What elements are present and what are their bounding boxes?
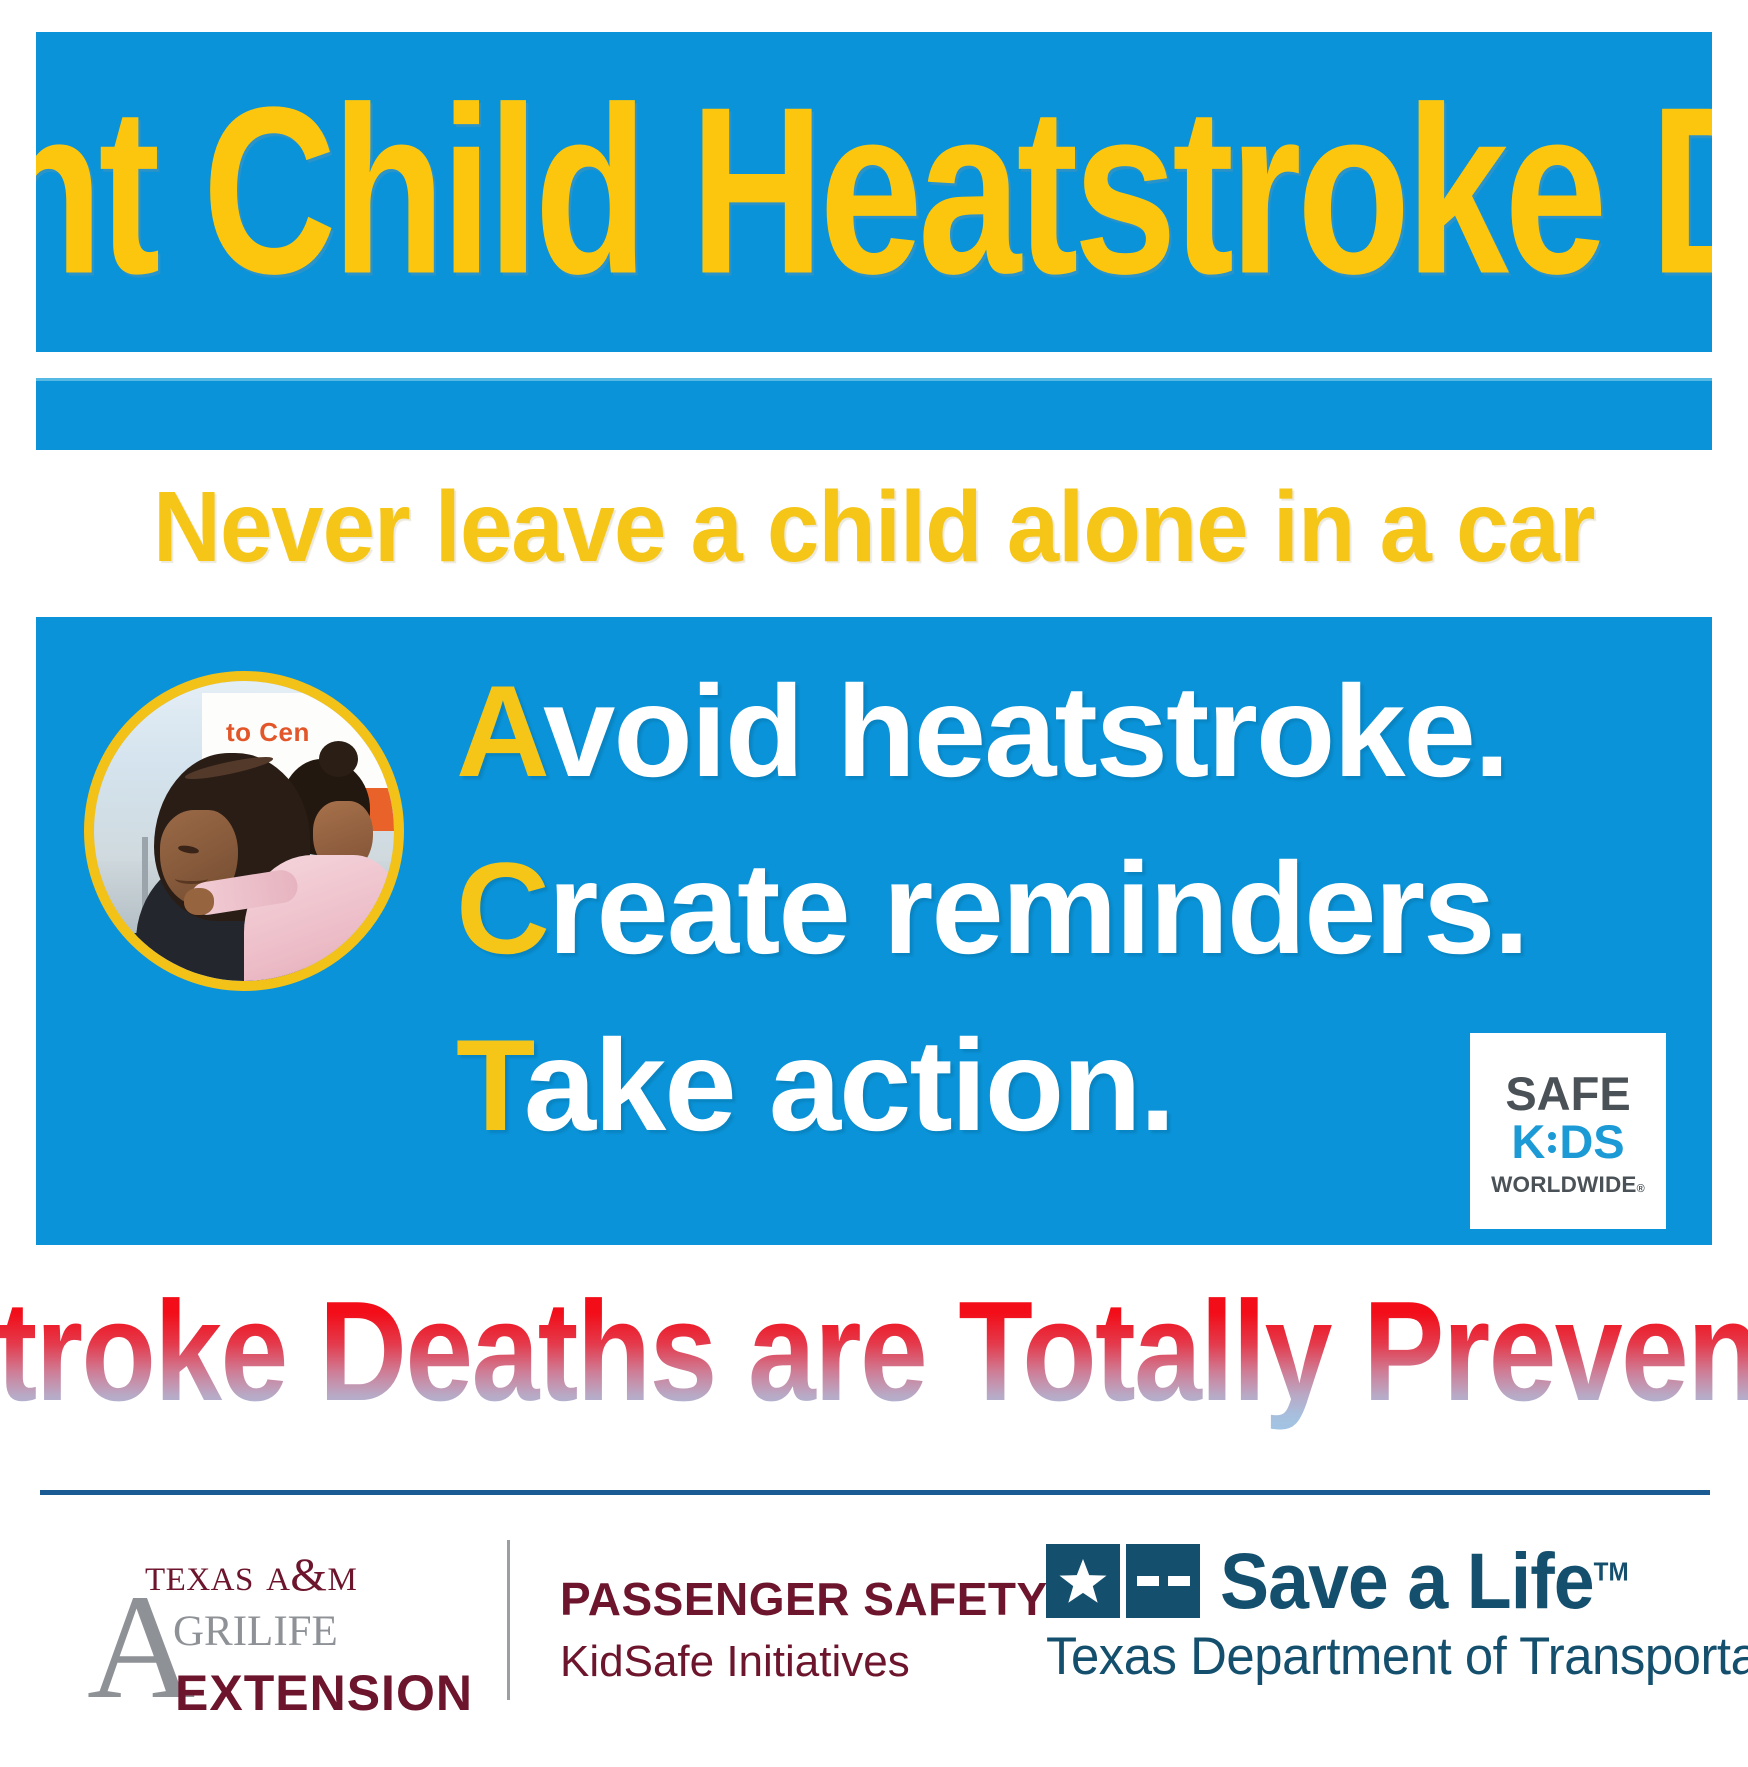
preventable-headline: Heatstroke Deaths are Totally Preventabl… <box>0 1270 1748 1434</box>
act-line-avoid: Avoid heatstroke. <box>456 643 1656 820</box>
passenger-safety-title: PASSENGER SAFETY <box>560 1572 1048 1626</box>
act-line-create: Create reminders. <box>456 820 1656 997</box>
passenger-safety-block: PASSENGER SAFETY KidSafe Initiatives <box>560 1572 1048 1689</box>
footer-logo-bar: A Texas A&M griLife EXTENSION PASSENGER … <box>0 1510 1748 1767</box>
txdot-agency-name: Texas Department of Transportation <box>1046 1626 1680 1687</box>
txdot-star-tile <box>1046 1544 1120 1618</box>
trademark-icon: TM <box>1594 1556 1629 1586</box>
act-text-create: reate reminders. <box>548 835 1528 981</box>
txdot-lane-markings-tile <box>1126 1544 1200 1618</box>
act-text-take: ake action. <box>524 1012 1174 1158</box>
footer-divider <box>40 1490 1710 1495</box>
safe-kids-logo-kids: K DS <box>1511 1117 1624 1168</box>
agrilife-wordmark: griLife <box>173 1590 338 1661</box>
photo-inner: to Cen <box>94 681 394 981</box>
red-headline-container: Heatstroke Deaths are Totally Preventabl… <box>0 1252 1748 1452</box>
act-cap-c: C <box>456 835 548 981</box>
safe-kids-logo-worldwide: WORLDWIDE® <box>1491 1172 1645 1198</box>
photo-sign-text: to Cen <box>226 717 310 748</box>
tagline-container: Never leave a child alone in a car <box>0 452 1748 602</box>
lane-dash-icon <box>1137 1576 1159 1586</box>
txdot-logo-top-row: Save a LifeTM <box>1046 1544 1706 1618</box>
safe-kids-worldwide-text: WORLDWIDE <box>1491 1172 1637 1197</box>
safe-kids-logo-safe: SAFE <box>1505 1070 1630 1117</box>
tagline-text: Never leave a child alone in a car <box>153 470 1594 585</box>
registered-trademark-icon: ® <box>1637 1183 1645 1195</box>
footer-vertical-rule <box>507 1540 510 1700</box>
photo-child-hair-bun <box>319 741 358 777</box>
txdot-save-a-life-logo: Save a LifeTM Texas Department of Transp… <box>1046 1544 1706 1687</box>
act-cap-a: A <box>456 658 543 804</box>
txdot-save-a-life-wordmark: Save a LifeTM <box>1220 1545 1629 1618</box>
agrilife-extension-text: EXTENSION <box>175 1664 473 1722</box>
safe-kids-worldwide-logo: SAFE K DS WORLDWIDE® <box>1470 1033 1666 1229</box>
act-cap-t: T <box>456 1012 524 1158</box>
kidsafe-initiatives-subtitle: KidSafe Initiatives <box>560 1634 1048 1689</box>
page-title: Prevent Child Heatstroke Deaths <box>36 83 1712 302</box>
texas-am-agrilife-extension-logo: A Texas A&M griLife EXTENSION <box>85 1548 475 1728</box>
decorative-blue-band <box>36 378 1712 450</box>
act-text-avoid: void heatstroke. <box>543 658 1508 804</box>
mother-holding-child-photo: to Cen <box>84 671 404 991</box>
safe-kids-logo-k: K <box>1511 1117 1545 1168</box>
photo-child-hand <box>184 888 214 915</box>
act-panel: to Cen Avoid heats <box>36 617 1712 1245</box>
lane-dash-icon <box>1168 1576 1190 1586</box>
star-icon <box>1059 1558 1107 1604</box>
poster-root: Prevent Child Heatstroke Deaths Never le… <box>0 0 1748 1767</box>
safe-kids-logo-ds: DS <box>1559 1117 1624 1168</box>
header-banner: Prevent Child Heatstroke Deaths <box>36 32 1712 352</box>
colon-dots-icon <box>1548 1132 1556 1153</box>
txdot-wordmark-text: Save a Life <box>1220 1536 1594 1625</box>
